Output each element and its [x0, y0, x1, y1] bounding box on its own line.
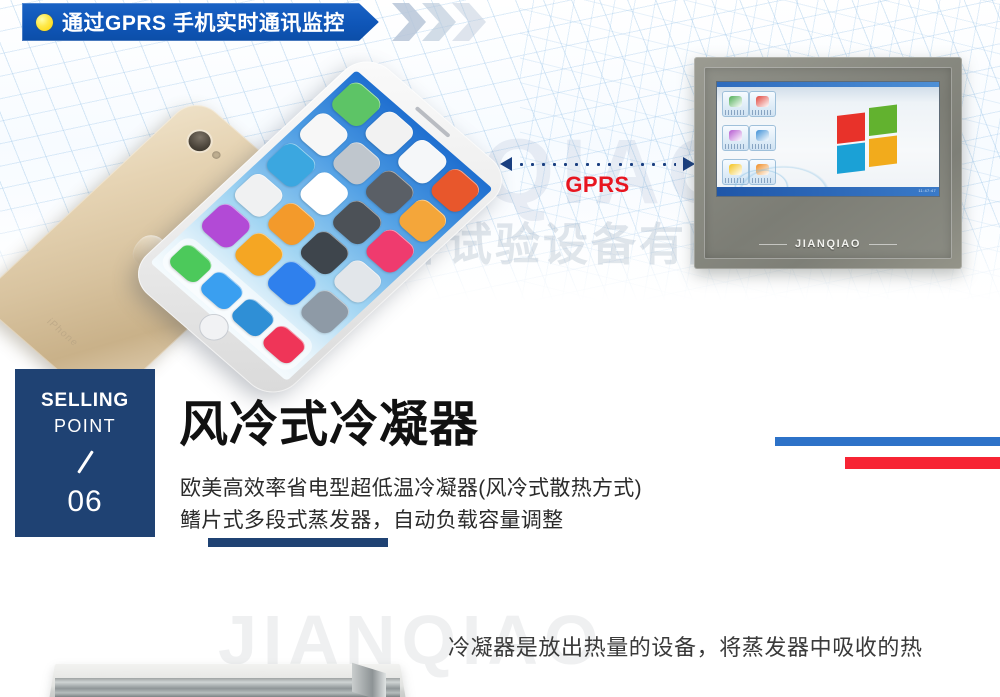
page-root: JIANQIAO 广东建乔试验设备有限公司 通过GPRS 手机实时通讯监控 iP… [0, 0, 1000, 697]
hmi-brand: JIANQIAO [704, 238, 952, 250]
calibrate-icon [722, 125, 749, 151]
brand-rule-left-icon [759, 244, 787, 245]
hmi-touch-panel: 11:47:47 JIANQIAO [694, 57, 962, 269]
selling-point-number: 06 [67, 487, 102, 517]
page-title: 风冷式冷凝器 [179, 400, 479, 451]
point-label: POINT [54, 417, 116, 435]
phone-front-view [125, 50, 515, 404]
decor-bar-blue [775, 437, 1000, 446]
selling-point-badge: SELLING POINT 06 [15, 369, 155, 537]
hmi-bezel: 11:47:47 JIANQIAO [704, 67, 952, 259]
gprs-link: GPRS [500, 150, 695, 210]
hmi-display: 11:47:47 [716, 81, 940, 197]
dotted-connection-line-icon [516, 162, 676, 167]
yellow-dot-icon [36, 14, 53, 31]
system-gear-icon [749, 159, 776, 185]
banner-tag: 通过GPRS 手机实时通讯监控 [22, 3, 379, 41]
subtitle-line-2: 鳍片式多段式蒸发器，自动负载容量调整 [180, 505, 642, 537]
hmi-menu-icons [722, 91, 790, 193]
curve-graph-icon [749, 125, 776, 151]
hmi-brand-label: JIANQIAO [795, 238, 861, 250]
camera-lens-icon [184, 127, 215, 155]
alarm-lamp-icon [722, 159, 749, 185]
windows-logo-icon [837, 104, 901, 176]
subtitle-line-1: 欧美高效率省电型超低温冷凝器(风冷式散热方式) [180, 473, 642, 505]
phone-brand-label: iPhone [44, 317, 80, 349]
chamber-front-edge [55, 678, 400, 697]
decor-bar-red [845, 457, 1000, 469]
settings-parameter-icon [722, 91, 749, 117]
hmi-statusbar: 11:47:47 [717, 187, 939, 196]
gprs-label: GPRS [500, 172, 695, 198]
chart-report-icon [749, 91, 776, 117]
banner: 通过GPRS 手机实时通讯监控 [22, 3, 379, 41]
hmi-titlebar [717, 82, 939, 87]
windows-pane-blue [837, 142, 865, 173]
arrow-left-icon [500, 157, 512, 171]
title-underline-bar [208, 538, 388, 547]
brand-rule-right-icon [869, 244, 897, 245]
windows-pane-red [837, 112, 865, 143]
phone-illustration: iPhone [60, 48, 460, 298]
dock-icon [260, 323, 309, 367]
selling-label: SELLING [41, 391, 129, 410]
hmi-clock: 11:47:47 [918, 188, 936, 193]
bottom-description: 冷凝器是放出热量的设备，将蒸发器中吸收的热 [448, 630, 923, 662]
page-subtitle: 欧美高效率省电型超低温冷凝器(风冷式散热方式) 鳍片式多段式蒸发器，自动负载容量… [180, 473, 642, 537]
windows-pane-green [869, 105, 897, 136]
slash-divider-icon [77, 450, 94, 473]
windows-pane-yellow [869, 136, 897, 167]
banner-title: 通过GPRS 手机实时通讯监控 [62, 7, 345, 37]
camera-flash-icon [210, 150, 222, 161]
